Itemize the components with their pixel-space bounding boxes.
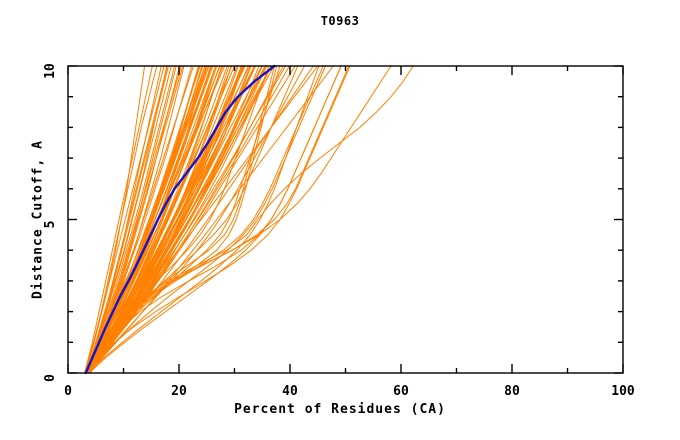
- y-tick-label: 5: [43, 221, 58, 229]
- plot-canvas: 0204060801000510: [0, 0, 680, 440]
- prediction-curve: [87, 66, 350, 373]
- y-tick-label: 0: [43, 374, 58, 382]
- x-tick-label: 60: [393, 384, 409, 399]
- x-tick-label: 0: [64, 384, 72, 399]
- y-tick-label: 10: [43, 63, 58, 79]
- x-tick-label: 100: [611, 384, 635, 399]
- chart-container: T0963 Distance Cutoff, A Percent of Resi…: [0, 0, 680, 440]
- prediction-curve: [86, 66, 256, 373]
- curves-layer: [85, 66, 414, 373]
- x-tick-label: 20: [171, 384, 187, 399]
- x-tick-label: 80: [504, 384, 520, 399]
- x-tick-label: 40: [282, 384, 298, 399]
